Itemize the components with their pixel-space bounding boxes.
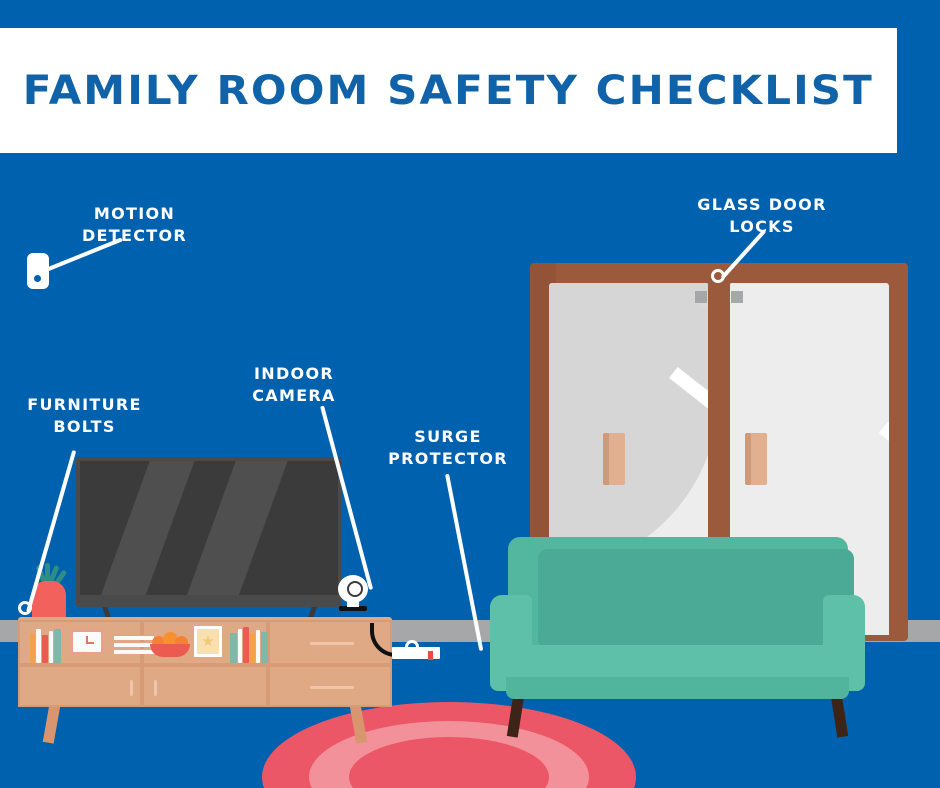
pane-shade-left bbox=[549, 283, 709, 573]
camera-lens-icon bbox=[347, 581, 363, 597]
door-handle-right[interactable] bbox=[751, 433, 767, 485]
television bbox=[76, 457, 342, 607]
book-9 bbox=[250, 633, 255, 663]
book-4 bbox=[49, 631, 53, 663]
callout-label-surge-protector: SURGE PROTECTOR bbox=[377, 426, 519, 470]
stacked-book-2 bbox=[114, 642, 154, 647]
tv-screen bbox=[80, 461, 338, 595]
indoor-camera bbox=[336, 575, 370, 611]
book-2 bbox=[36, 629, 41, 663]
picture-frame: ★ bbox=[194, 626, 222, 657]
book-6 bbox=[230, 633, 237, 663]
sofa-backrest bbox=[508, 537, 848, 662]
picture-frame-mat: ★ bbox=[197, 629, 219, 654]
tv-glare-a bbox=[82, 461, 204, 595]
callout-label-furniture-bolts: FURNITURE BOLTS bbox=[12, 394, 157, 438]
leader-dot-surge-protector bbox=[405, 640, 419, 654]
callout-label-indoor-camera: INDOOR CAMERA bbox=[223, 363, 365, 407]
potted-plant bbox=[30, 563, 68, 623]
book-11 bbox=[261, 632, 268, 663]
camera-body bbox=[338, 575, 368, 603]
pane-glare-right-b bbox=[879, 422, 889, 605]
door-handle-left[interactable] bbox=[609, 433, 625, 485]
stacked-book-1 bbox=[114, 635, 154, 640]
leader-dot-glass-door-locks bbox=[711, 269, 725, 283]
door-lock-right-icon[interactable] bbox=[731, 291, 743, 303]
callout-label-motion-detector: MOTION DETECTOR bbox=[62, 203, 207, 247]
bowl-dish bbox=[150, 644, 190, 657]
door-pull-bottom-middle bbox=[154, 680, 157, 696]
console-door-bottom-left[interactable] bbox=[18, 665, 142, 707]
book-5 bbox=[54, 629, 61, 663]
book-10 bbox=[256, 630, 260, 663]
book-8 bbox=[243, 627, 249, 663]
door-lock-left-icon[interactable] bbox=[695, 291, 707, 303]
drawer-pull-top-right bbox=[310, 642, 354, 645]
page-title: FAMILY ROOM SAFETY CHECKLIST bbox=[23, 68, 874, 114]
fruit-bowl bbox=[150, 630, 190, 656]
clock-hand-hour bbox=[87, 642, 94, 644]
drawer-pull-bottom-right bbox=[310, 686, 354, 689]
books-left-group bbox=[30, 627, 66, 663]
stacked-book-3 bbox=[114, 649, 154, 654]
media-console: ★ bbox=[18, 617, 392, 723]
books-middle-group bbox=[230, 627, 266, 663]
infographic-scene: FAMILY ROOM SAFETY CHECKLIST bbox=[0, 0, 940, 788]
surge-protector-outlet bbox=[428, 651, 433, 660]
sofa-base bbox=[506, 677, 849, 699]
book-7 bbox=[238, 629, 242, 663]
door-pull-bottom-left bbox=[130, 680, 133, 696]
leader-dot-furniture-bolts bbox=[18, 601, 32, 615]
title-banner: FAMILY ROOM SAFETY CHECKLIST bbox=[0, 28, 897, 153]
sofa-backrest-inset bbox=[538, 549, 854, 649]
console-door-bottom-middle[interactable] bbox=[142, 665, 268, 707]
console-drawer-bottom-right[interactable] bbox=[268, 665, 392, 707]
star-icon: ★ bbox=[201, 634, 214, 649]
shelf-clock bbox=[71, 630, 103, 654]
sofa bbox=[490, 537, 865, 722]
book-1 bbox=[30, 633, 35, 663]
book-3 bbox=[42, 635, 48, 663]
stacked-books bbox=[114, 635, 154, 654]
motion-sensor-led bbox=[34, 275, 41, 282]
